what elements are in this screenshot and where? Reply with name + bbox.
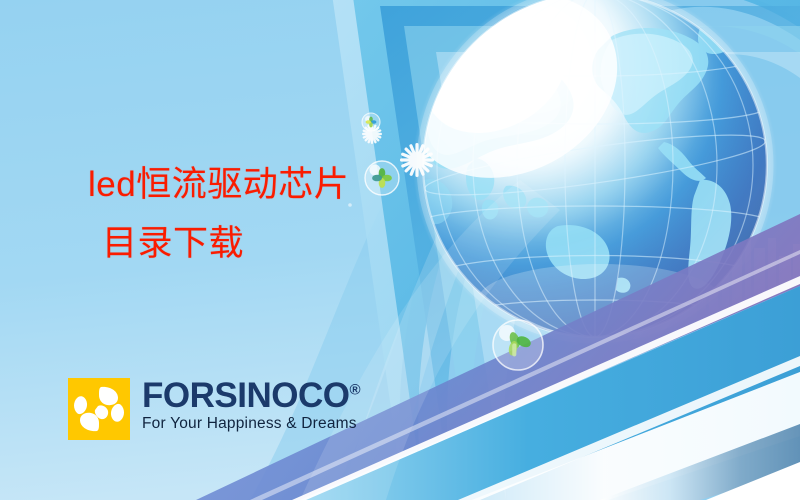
registered-trademark-icon: ®: [349, 381, 360, 398]
headline-block: led恒流驱动芯片 目录下载: [88, 163, 349, 267]
bubble-pinwheel-bottom: [493, 320, 543, 370]
headline-cjk: 恒流驱动芯片: [136, 165, 349, 205]
company-logo[interactable]: FORSINOCO® For Your Happiness & Dreams: [68, 378, 360, 440]
banner-canvas: led恒流驱动芯片 目录下载 FORSINOCO® For Your Happi…: [0, 0, 800, 500]
bubble-pinwheel-mid: [365, 161, 399, 195]
forsinoco-pinwheel-icon: [68, 378, 130, 440]
logo-text-block: FORSINOCO® For Your Happiness & Dreams: [142, 378, 360, 433]
sparkle-large: [400, 143, 434, 177]
headline-latin: led: [88, 165, 136, 204]
headline-line-2: 目录下载: [88, 222, 349, 267]
bubble-pinwheel-top: [362, 113, 380, 131]
logo-wordmark: FORSINOCO®: [142, 379, 360, 412]
logo-tagline: For Your Happiness & Dreams: [142, 415, 360, 433]
headline-line-1: led恒流驱动芯片: [88, 163, 349, 208]
logo-wordmark-text: FORSINOCO: [142, 376, 349, 415]
